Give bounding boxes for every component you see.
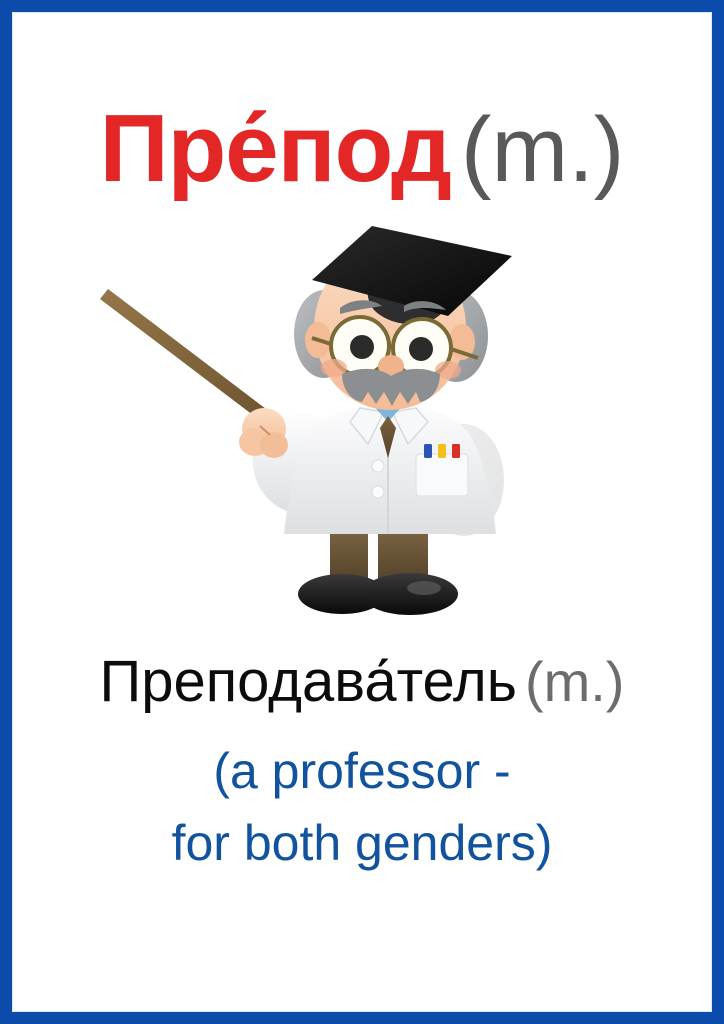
english-gloss: (a professor - for both genders) [12,735,712,880]
shoes [298,573,458,615]
gloss-line-2: for both genders) [12,807,712,880]
full-form: Преподава́тель(m.) [12,652,712,713]
pocket-pens [424,444,460,458]
hand-fist [239,408,288,458]
full-form-gender-label: (m.) [525,650,625,713]
pointer-stick-icon [100,289,270,422]
headword: Пре́под(m.) [12,94,712,204]
headword-word: Пре́под [100,95,451,202]
headword-gender-label: (m.) [461,99,624,201]
full-form-word: Преподава́тель [100,649,517,714]
gloss-line-1: (a professor - [12,735,712,808]
flashcard: Пре́под(m.) [0,0,724,1024]
professor-with-pointer-illustration [12,216,712,636]
flashcard-inner: Пре́под(m.) [12,12,712,1012]
